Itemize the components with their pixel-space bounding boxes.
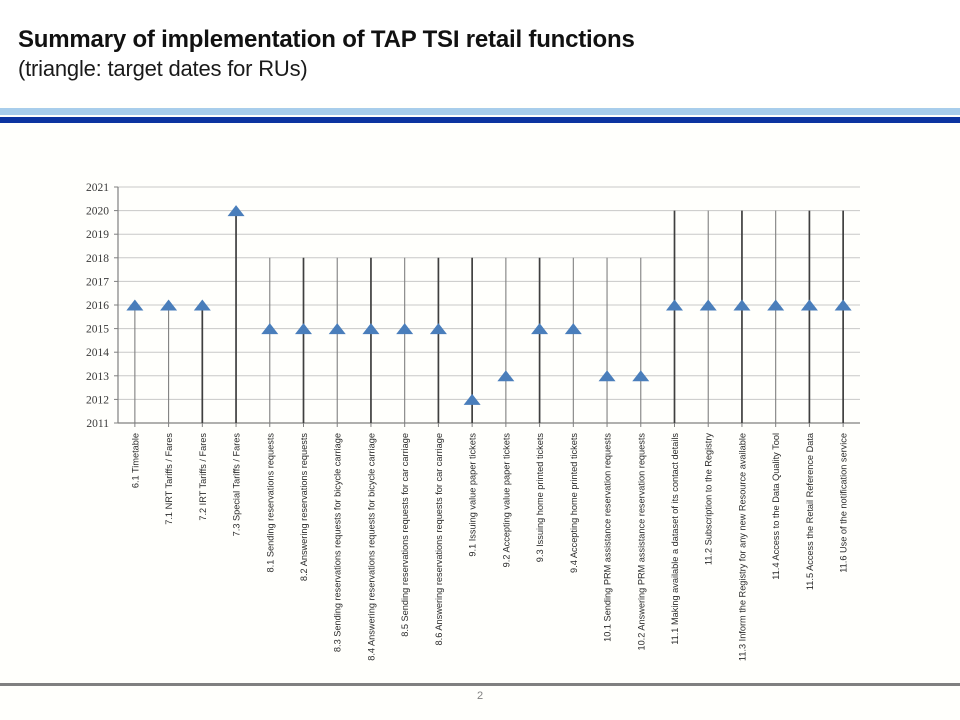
x-axis-tick-label: 8.1 Sending reservations requests — [265, 433, 275, 573]
y-axis-tick-label: 2021 — [86, 182, 109, 194]
y-axis-tick-label: 2016 — [86, 300, 109, 312]
x-axis-tick-label: 9.3 Issuing home printed tickets — [535, 433, 545, 563]
x-axis-tick-label: 8.2 Answering reservations requests — [299, 433, 309, 582]
x-axis-tick-label: 10.2 Answering PRM assistance reservatio… — [636, 433, 646, 651]
page-subtitle: (triangle: target dates for RUs) — [18, 56, 918, 82]
x-axis-tick-label: 11.1 Making available a dataset of its c… — [670, 433, 680, 645]
header-rule-dark — [0, 117, 960, 123]
y-axis-tick-label: 2020 — [86, 206, 109, 218]
y-axis-tick-label: 2012 — [86, 394, 109, 406]
x-axis-tick-label: 7.3 Special Tariffs / Fares — [232, 433, 242, 537]
gridlines-group — [118, 187, 860, 423]
y-axis-tick-label: 2017 — [86, 276, 109, 288]
y-axis-tick-label: 2011 — [86, 418, 109, 430]
implementation-dates-chart: 2011201220132014201520162017201820192020… — [0, 130, 960, 680]
x-axis-tick-label: 7.2 IRT Tariffs / Fares — [198, 433, 208, 521]
x-axis-tick-label: 11.6 Use of the notification service — [839, 433, 849, 573]
x-axis-tick-label: 8.6 Answering reservations requests for … — [434, 433, 444, 645]
x-axis-tick-label: 11.5 Access the Retail Reference Data — [805, 432, 815, 590]
x-axis-tick-label: 8.5 Sending reservations requests for ca… — [400, 433, 410, 637]
x-axis-tick-label: 11.4 Access to the Data Quality Tool — [771, 433, 781, 580]
x-axis-labels-group: 6.1 Timetable7.1 NRT Tariffs / Fares7.2 … — [130, 432, 848, 661]
stems-group — [135, 211, 843, 423]
chart-container: 2011201220132014201520162017201820192020… — [0, 130, 960, 680]
footer-divider — [0, 683, 960, 686]
x-axis-tick-label: 9.4 Accepting home printed tickets — [569, 433, 579, 573]
x-axis-tick-label: 8.4 Answering reservations requests for … — [366, 433, 376, 661]
page-title: Summary of implementation of TAP TSI ret… — [18, 26, 918, 54]
x-axis-tick-label: 9.1 Issuing value paper tickets — [468, 433, 478, 557]
header-rule-light — [0, 108, 960, 115]
slide-header: Summary of implementation of TAP TSI ret… — [0, 0, 960, 104]
x-axis-tick-label: 11.2 Subscription to the Registry — [704, 433, 714, 566]
y-axis-tick-label: 2015 — [86, 324, 109, 336]
x-axis-tick-label: 7.1 NRT Tariffs / Fares — [164, 433, 174, 525]
y-axis-tick-label: 2019 — [86, 229, 109, 241]
x-axis-tick-label: 9.2 Accepting value paper tickets — [501, 433, 511, 568]
page-number: 2 — [0, 690, 960, 702]
x-axis-tick-label: 8.3 Sending reservations requests for bi… — [333, 433, 343, 652]
x-axis-tick-label: 11.3 Inform the Registry for any new Res… — [737, 433, 747, 661]
x-axis-tick-label: 10.1 Sending PRM assistance reservation … — [603, 433, 613, 642]
y-axis-tick-label: 2014 — [86, 347, 109, 359]
y-axis-tick-label: 2013 — [86, 371, 109, 383]
y-axis-tick-label: 2018 — [86, 253, 109, 265]
x-axis-tick-label: 6.1 Timetable — [130, 433, 140, 488]
